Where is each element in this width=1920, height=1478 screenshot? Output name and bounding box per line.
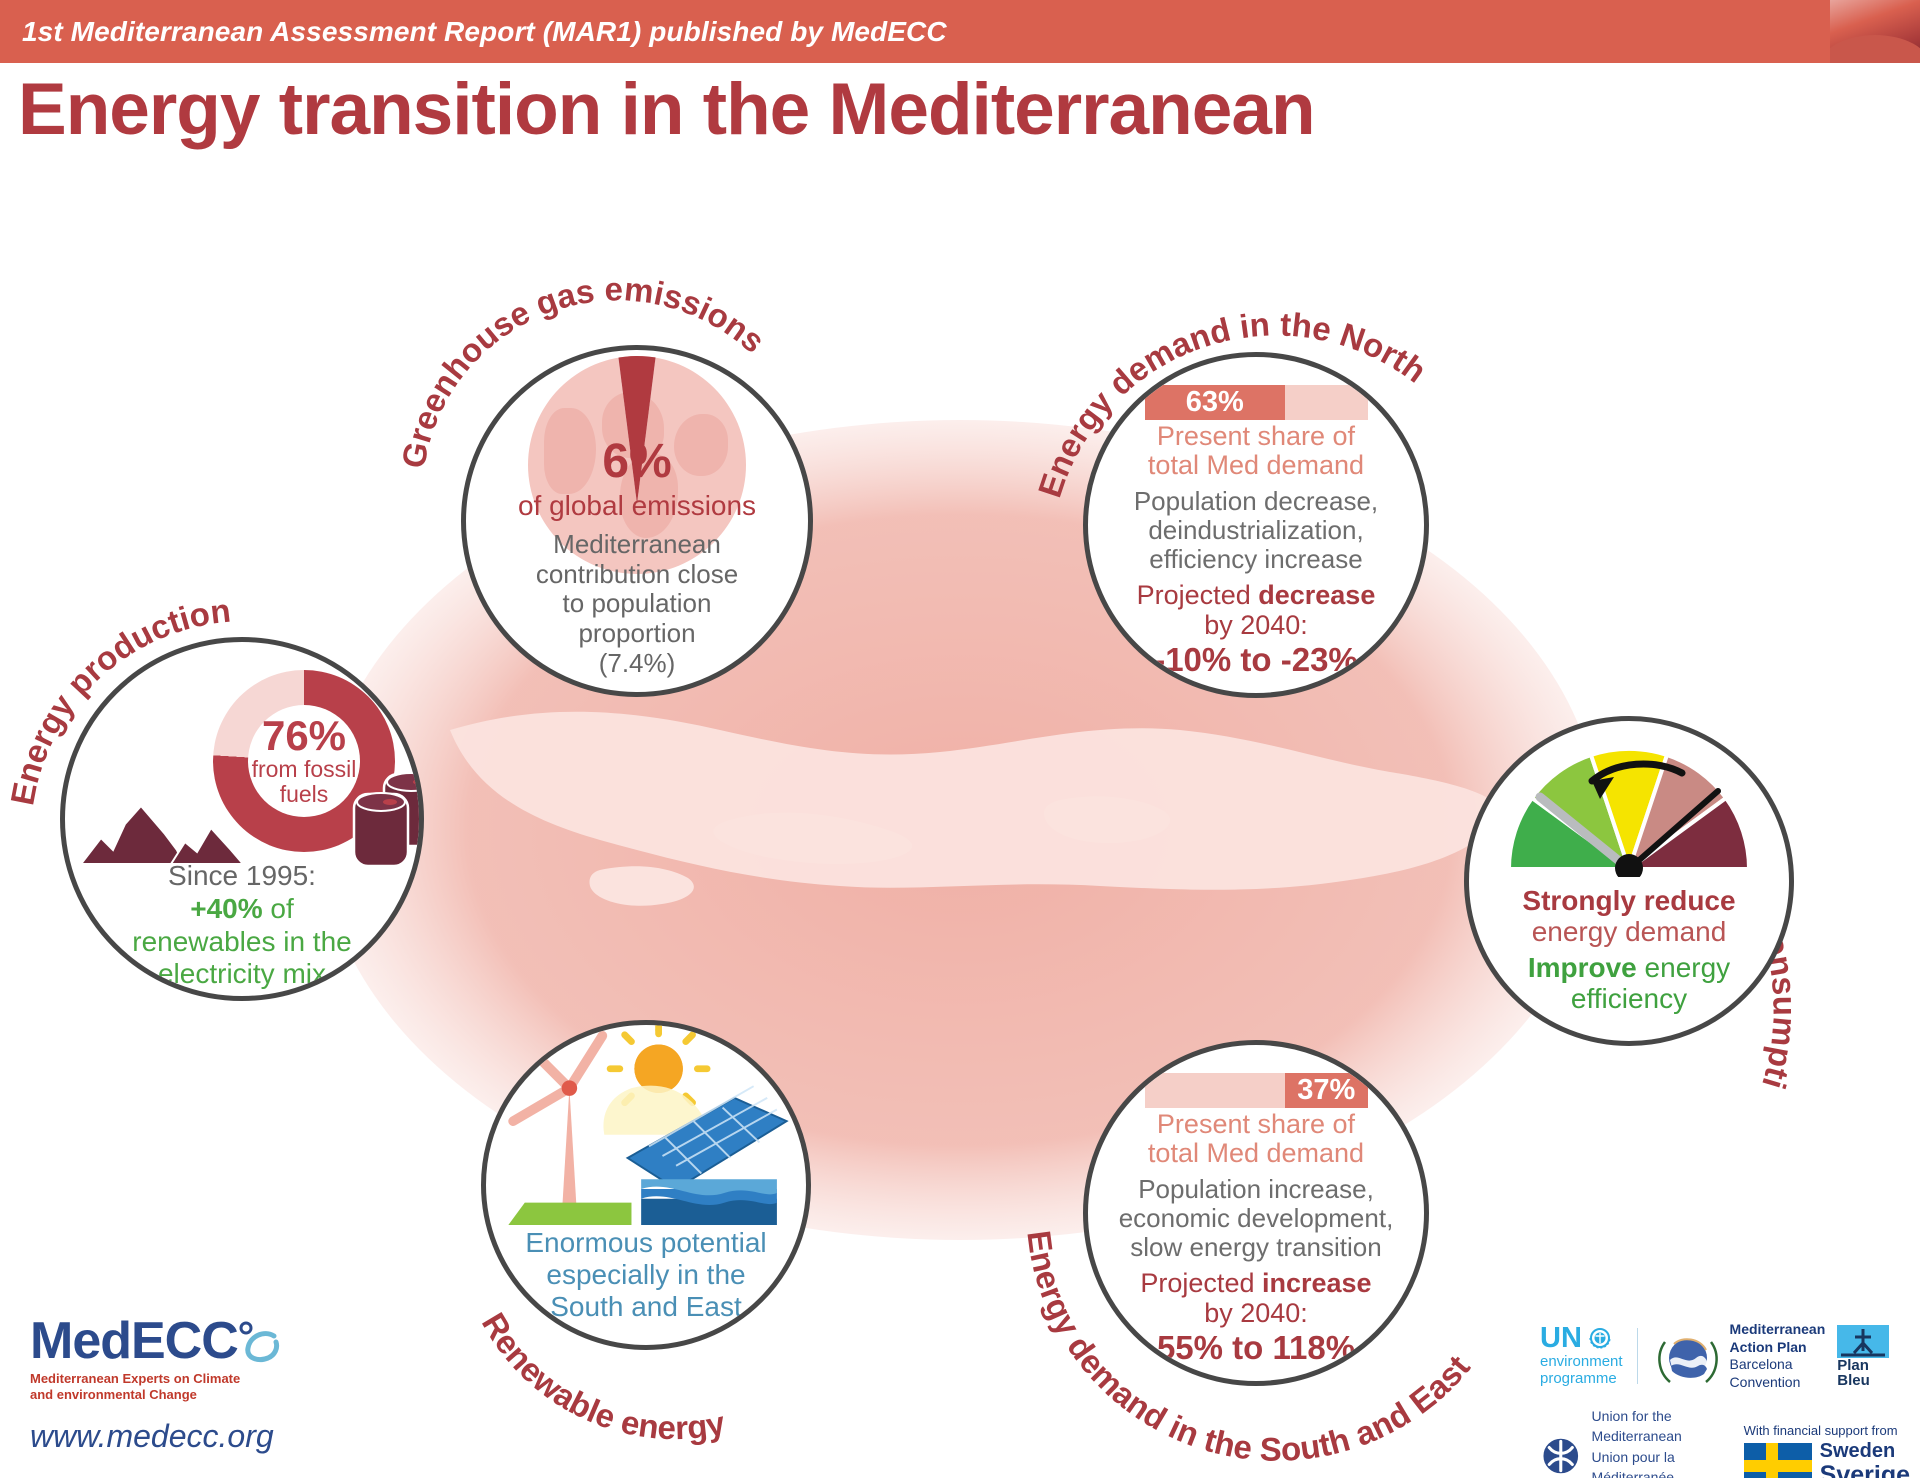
- south-projection-value: 55% to 118%: [1157, 1331, 1355, 1366]
- bubble-greenhouse-gas[interactable]: 6% of global emissions Mediterranean con…: [461, 345, 813, 697]
- north-reason-line: deindustrialization,: [1134, 516, 1378, 545]
- production-percent-caption-1: from fossil: [252, 758, 357, 781]
- south-share-bar: 37%: [1145, 1073, 1368, 1108]
- production-renewables-line: +40% of: [65, 893, 419, 926]
- plan-bleu-logo: Plan Bleu: [1837, 1325, 1889, 1388]
- bubble-decrease-energy-consumption[interactable]: Strongly reduce energy demand Improve en…: [1464, 716, 1794, 1046]
- medecc-tagline-line2: and environmental Change: [30, 1387, 290, 1403]
- bubble-energy-production[interactable]: 76% from fossil fuels Since 1995: +40% o…: [60, 637, 424, 1001]
- wave-icon: [641, 1179, 777, 1225]
- south-projection: Projected increase by 2040:: [1140, 1268, 1371, 1328]
- north-reasons: Population decrease, deindustrialization…: [1134, 487, 1378, 573]
- gauge-improve-bold: Improve: [1528, 952, 1637, 983]
- plan-bleu-line1: Plan: [1837, 1358, 1889, 1373]
- ghg-body-line: (7.4%): [536, 649, 738, 679]
- wind-turbine-icon: [513, 1036, 602, 1218]
- production-text-block: Since 1995: +40% of renewables in the el…: [65, 860, 419, 991]
- north-projection-value: -10% to -23%: [1154, 643, 1358, 678]
- south-reasons: Population increase, economic developmen…: [1119, 1175, 1394, 1261]
- production-plus40: +40%: [190, 893, 262, 924]
- south-share-fill: 37%: [1285, 1073, 1368, 1108]
- production-line4: electricity mix: [65, 958, 419, 991]
- bubble-energy-demand-south-east[interactable]: 37% Present share of total Med demand Po…: [1083, 1040, 1429, 1386]
- south-projection-bold: increase: [1262, 1268, 1372, 1298]
- ghg-percent-caption: of global emissions: [518, 490, 756, 522]
- medecc-logo[interactable]: MedECC Mediterranean Experts on Climate …: [30, 1315, 290, 1404]
- south-share-caption-line2: total Med demand: [1148, 1139, 1364, 1168]
- north-reason-line: efficiency increase: [1134, 545, 1378, 574]
- logo-divider: [1637, 1328, 1638, 1384]
- bubble-energy-demand-north[interactable]: 63% Present share of total Med demand Po…: [1083, 352, 1429, 698]
- ghg-body-text: Mediterranean contribution close to popu…: [536, 530, 738, 678]
- ghg-body-line: contribution close: [536, 560, 738, 590]
- production-percent-caption-2: fuels: [280, 783, 329, 806]
- ghg-percent: 6%: [602, 438, 671, 486]
- ghg-body-line: Mediterranean: [536, 530, 738, 560]
- un-globe-icon: [1587, 1325, 1613, 1351]
- north-projection-year: by 2040:: [1137, 610, 1376, 640]
- gauge-line-1: Strongly reduce: [1522, 885, 1735, 916]
- banner-decoration: [1830, 0, 1920, 63]
- south-reason-line: economic development,: [1119, 1204, 1394, 1233]
- banner-text: 1st Mediterranean Assessment Report (MAR…: [0, 16, 947, 48]
- renewables-text-line: especially in the: [525, 1259, 766, 1291]
- north-projection-bold: decrease: [1258, 580, 1375, 610]
- north-share-caption: Present share of total Med demand: [1148, 422, 1364, 480]
- map-barcelona-emblem-icon: [1652, 1320, 1724, 1392]
- map-line1: Mediterranean: [1730, 1321, 1826, 1339]
- sweden-support-text: With financial support from: [1744, 1423, 1910, 1438]
- renewables-text: Enormous potential especially in the Sou…: [525, 1227, 766, 1323]
- un-environment-logo: UN environment programme: [1540, 1320, 1889, 1392]
- ufm-emblem-icon: [1540, 1429, 1582, 1478]
- north-share-caption-line1: Present share of: [1148, 422, 1364, 451]
- donut-center: 76% from fossil fuels: [248, 705, 360, 817]
- north-reason-line: Population decrease,: [1134, 487, 1378, 516]
- map-line4: Convention: [1730, 1374, 1826, 1392]
- ufm-text-block: Union for the Mediterranean Union pour l…: [1592, 1406, 1726, 1478]
- production-since-line: Since 1995:: [65, 860, 419, 893]
- gauge-improve-rest: energy: [1637, 952, 1730, 983]
- infographic-page: 1st Mediterranean Assessment Report (MAR…: [0, 0, 1920, 1478]
- south-share-caption-line1: Present share of: [1148, 1110, 1364, 1139]
- medecc-url[interactable]: www.medecc.org: [30, 1418, 274, 1455]
- renewables-text-line: Enormous potential: [525, 1227, 766, 1259]
- sweden-flag-icon: [1744, 1443, 1812, 1478]
- medecc-tagline-line1: Mediterranean Experts on Climate: [30, 1371, 290, 1387]
- biomass-icon: [503, 1203, 631, 1225]
- production-line3: renewables in the: [65, 926, 419, 959]
- medecc-wordmark: MedECC: [30, 1315, 238, 1367]
- production-percent: 76%: [262, 716, 346, 756]
- south-share-caption: Present share of total Med demand: [1148, 1110, 1364, 1168]
- ghg-body-line: proportion: [536, 619, 738, 649]
- map-title-block: Mediterranean Action Plan Barcelona Conv…: [1730, 1321, 1826, 1391]
- north-projection: Projected decrease by 2040:: [1137, 580, 1376, 640]
- un-sub-line2: programme: [1540, 1370, 1623, 1388]
- production-of: of: [263, 893, 294, 924]
- consumption-gauge-icon: [1496, 737, 1762, 877]
- south-projection-prefix: Projected: [1140, 1268, 1262, 1298]
- south-projection-year: by 2040:: [1140, 1298, 1371, 1328]
- north-share-percent: 63%: [1186, 386, 1244, 419]
- south-share-percent: 37%: [1297, 1074, 1355, 1107]
- gauge-line-3: Improve energy: [1528, 952, 1730, 983]
- ufm-line1: Union for the Mediterranean: [1592, 1406, 1726, 1447]
- south-reason-line: slow energy transition: [1119, 1233, 1394, 1262]
- ghg-body-line: to population: [536, 589, 738, 619]
- ufm-line2: Union pour la Méditerranée: [1592, 1447, 1726, 1478]
- sweden-line2: Sverige: [1820, 1462, 1910, 1478]
- south-reason-line: Population increase,: [1119, 1175, 1394, 1204]
- plan-bleu-icon: [1837, 1325, 1889, 1358]
- page-title: Energy transition in the Mediterranean: [18, 68, 1315, 151]
- map-line3: Barcelona: [1730, 1356, 1826, 1374]
- ufm-logo: Union for the Mediterranean Union pour l…: [1540, 1406, 1910, 1478]
- plan-bleu-line2: Bleu: [1837, 1373, 1889, 1388]
- gauge-line-4: efficiency: [1571, 983, 1687, 1014]
- north-projection-prefix: Projected: [1137, 580, 1259, 610]
- un-wordmark: UN: [1540, 1324, 1582, 1352]
- sweden-support-logo: With financial support from Sweden Sveri…: [1744, 1423, 1910, 1478]
- oil-barrels-icon: [348, 762, 424, 872]
- un-sub-line1: environment: [1540, 1353, 1623, 1371]
- medecc-tagline: Mediterranean Experts on Climate and env…: [30, 1371, 290, 1404]
- north-share-caption-line2: total Med demand: [1148, 451, 1364, 480]
- map-line2: Action Plan: [1730, 1339, 1826, 1357]
- report-banner: 1st Mediterranean Assessment Report (MAR…: [0, 0, 1836, 63]
- partner-logos: UN environment programme: [1540, 1320, 1910, 1470]
- medecc-swirl-icon: [234, 1318, 280, 1364]
- renewables-illustration: [486, 1025, 806, 1225]
- renewables-text-line: South and East: [525, 1291, 766, 1323]
- bubble-renewable-energy[interactable]: Enormous potential especially in the Sou…: [481, 1020, 811, 1350]
- north-share-bar: 63%: [1145, 385, 1368, 420]
- sweden-line1: Sweden: [1820, 1441, 1910, 1462]
- north-share-fill: 63%: [1145, 385, 1285, 420]
- gauge-line-2: energy demand: [1532, 916, 1727, 947]
